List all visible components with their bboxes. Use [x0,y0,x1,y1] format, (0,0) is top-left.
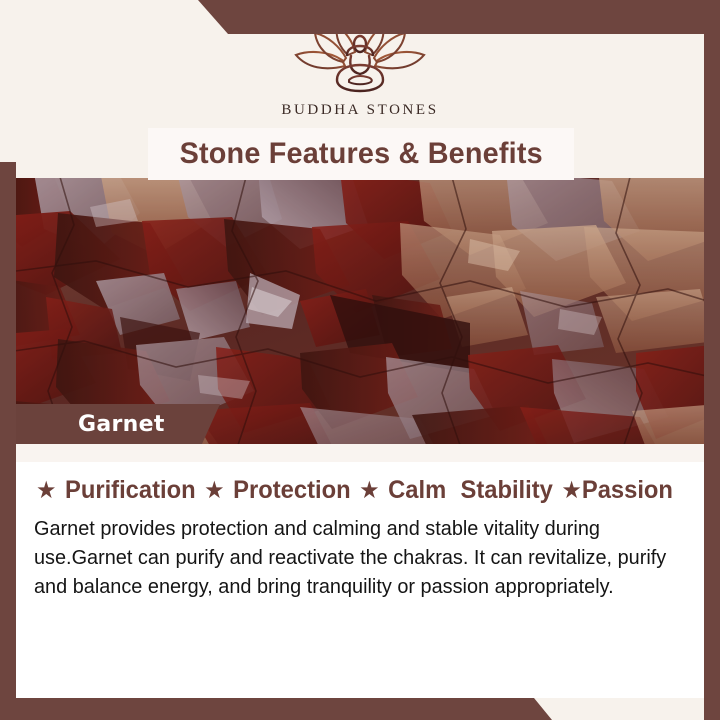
content-card: ★Purification★Protection★CalmStability★P… [16,444,704,698]
benefit-label: Stability [460,476,552,504]
stone-benefits-poster: BUDDHA STONES Stone Features & Benefits [0,0,720,720]
frame-bottom-bar [0,698,720,720]
content-card-tint [16,444,704,462]
brand-name: BUDDHA STONES [0,102,720,119]
frame-left-bar [0,162,16,720]
title-plate: Stone Features & Benefits [148,128,574,180]
benefit-label: Passion [582,476,673,504]
stone-description: Garnet provides protection and calming a… [34,514,670,601]
star-icon: ★ [359,476,379,504]
star-icon: ★ [561,476,581,504]
stone-name: Garnet [78,412,165,437]
brand-logo: BUDDHA STONES [0,22,720,119]
benefit-label: Calm [388,476,446,504]
star-icon: ★ [204,476,224,504]
page-title: Stone Features & Benefits [179,137,542,171]
stone-name-banner: Garnet [16,404,220,444]
benefits-list: ★Purification★Protection★CalmStability★P… [36,476,654,505]
benefit-label: Purification [65,476,196,504]
frame-right-bar [704,0,720,720]
benefit-label: Protection [233,476,350,504]
star-icon: ★ [36,476,56,504]
